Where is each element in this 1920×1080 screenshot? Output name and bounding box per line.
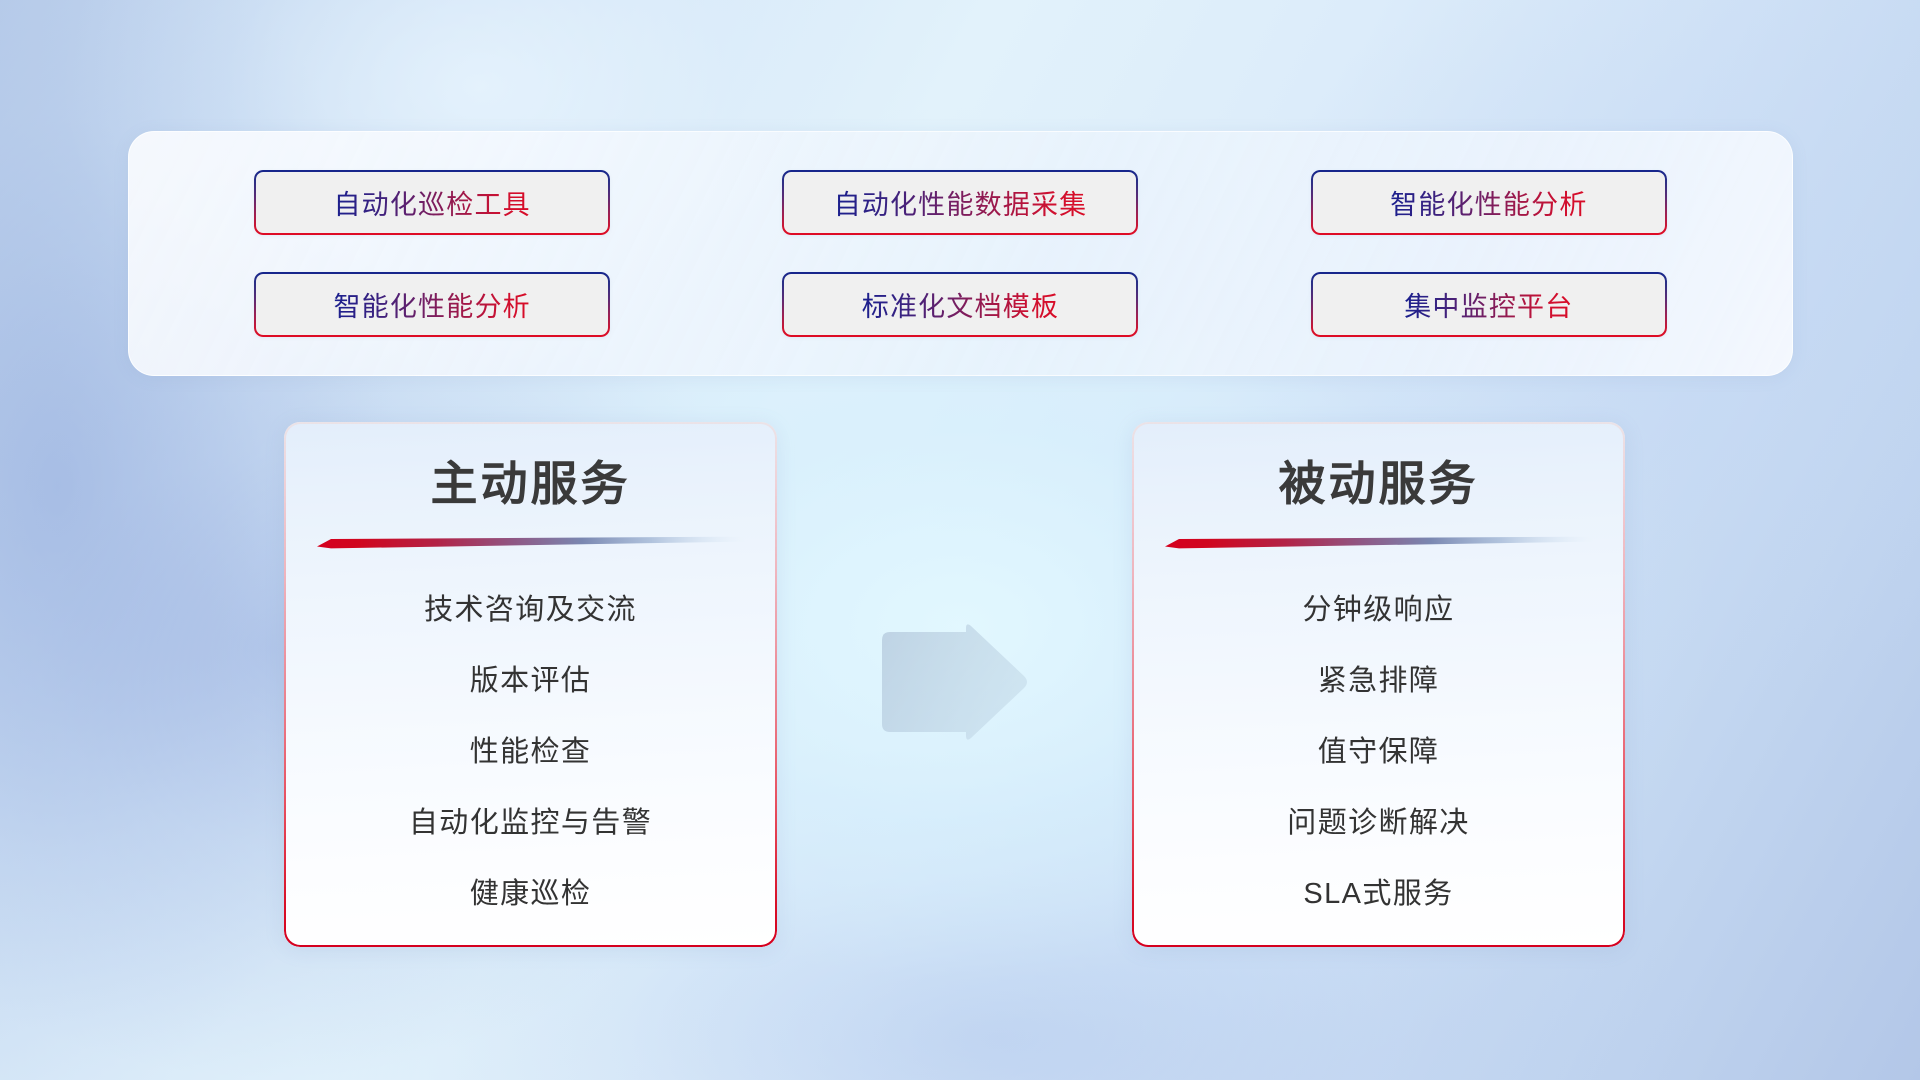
right-arrow-icon xyxy=(874,624,1030,744)
card-list-item: 健康巡检 xyxy=(470,859,592,930)
capability-tag[interactable]: 智能化性能分析 xyxy=(1311,170,1667,235)
card-list-item: 值守保障 xyxy=(1318,717,1440,788)
card-title: 主动服务 xyxy=(431,460,631,507)
card-divider xyxy=(317,536,745,549)
capability-tag-label: 自动化巡检工具 xyxy=(333,183,530,222)
capability-tag[interactable]: 自动化巡检工具 xyxy=(254,170,610,235)
capability-tag-label: 智能化性能分析 xyxy=(333,285,530,324)
card-list-item: 紧急排障 xyxy=(1318,646,1440,717)
service-card-proactive[interactable]: 主动服务 技术咨询及交流 版本评估 性能检查 自动化监控与告警 xyxy=(284,422,777,947)
slide-canvas: 自动化巡检工具 自动化性能数据采集 智能化性能分析 智能化性能分析 标准化文档模… xyxy=(0,0,1920,1080)
card-divider xyxy=(1165,536,1593,549)
card-list-item: SLA式服务 xyxy=(1303,859,1453,930)
card-list-item: 技术咨询及交流 xyxy=(424,575,637,646)
card-title: 被动服务 xyxy=(1279,460,1479,507)
card-list-item: 性能检查 xyxy=(470,717,592,788)
capability-tag-label: 集中监控平台 xyxy=(1404,285,1573,324)
capability-tag[interactable]: 集中监控平台 xyxy=(1311,272,1667,337)
card-list-item: 分钟级响应 xyxy=(1302,575,1454,646)
capability-tag-label: 自动化性能数据采集 xyxy=(834,183,1088,222)
capability-tag[interactable]: 智能化性能分析 xyxy=(254,272,610,337)
capability-tag[interactable]: 自动化性能数据采集 xyxy=(782,170,1138,235)
card-list-item: 版本评估 xyxy=(470,646,592,717)
card-list-item: 自动化监控与告警 xyxy=(409,788,652,859)
card-item-list: 分钟级响应 紧急排障 值守保障 问题诊断解决 SLA式服务 xyxy=(1132,575,1625,930)
capability-tag-label: 智能化性能分析 xyxy=(1390,183,1587,222)
capability-tag[interactable]: 标准化文档模板 xyxy=(782,272,1138,337)
capability-tags-panel: 自动化巡检工具 自动化性能数据采集 智能化性能分析 智能化性能分析 标准化文档模… xyxy=(128,131,1793,376)
service-card-reactive[interactable]: 被动服务 分钟级响应 紧急排障 值守保障 问题诊断解决 xyxy=(1132,422,1625,947)
card-item-list: 技术咨询及交流 版本评估 性能检查 自动化监控与告警 健康巡检 xyxy=(284,575,777,930)
capability-tag-label: 标准化文档模板 xyxy=(862,285,1059,324)
card-list-item: 问题诊断解决 xyxy=(1287,788,1469,859)
